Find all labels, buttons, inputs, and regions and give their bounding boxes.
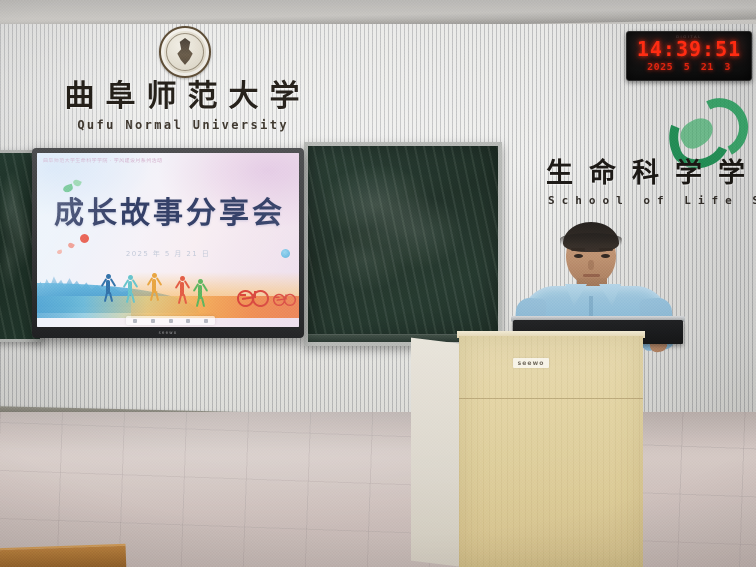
screen-indicator-icon[interactable] [281, 249, 290, 258]
wooden-object-corner [0, 544, 126, 567]
toolbar-icon[interactable] [169, 319, 173, 323]
jumping-figure [177, 274, 188, 304]
lectern-side-panel [411, 338, 463, 567]
presenter-eyebrow [571, 248, 585, 251]
lectern-seam [459, 398, 643, 399]
toolbar-icon[interactable] [133, 319, 137, 323]
center-blackboard [304, 142, 502, 346]
clock-weekday: 3 [724, 62, 731, 73]
lectern-front-panel: seewo [459, 336, 643, 567]
display-screen[interactable]: 曲阜师范大学生命科学学院 · 学风建设月系列活动 成长故事分享会 2025 年 … [37, 153, 299, 327]
school-name-chinese: 生命科学学院 [546, 158, 756, 190]
qufu-normal-university-sign: 曲阜师范大学 Qufu Normal University [48, 26, 316, 138]
clock-year: 2025 [647, 62, 673, 73]
clock-date-display: 2025 5 21 3 [627, 62, 751, 73]
lecture-hall-photo: DIGITAL 14:39:51 2025 5 21 3 曲阜师范大学 Qufu… [0, 0, 756, 567]
university-crest-emblem [159, 26, 211, 78]
jumping-figure [103, 272, 114, 302]
chalk-smudges [308, 146, 498, 342]
toolbar-icon[interactable] [186, 319, 190, 323]
jumping-figure [195, 277, 206, 307]
display-brand-label: seewo [159, 330, 178, 335]
wood-grain [459, 336, 643, 567]
jumping-figure [149, 271, 160, 301]
presenter-eye [601, 254, 610, 258]
presenter-eyebrow [599, 248, 613, 251]
school-of-life-sciences-sign: 生命科学学院 School of Life Sciences [546, 96, 756, 224]
display-bezel-chin: seewo [32, 327, 304, 338]
university-name-english: Qufu Normal University [48, 118, 316, 132]
slide-toolbar[interactable] [126, 316, 215, 325]
presenter-mouth [583, 274, 600, 277]
school-name-english: School of Life Sciences [548, 194, 756, 207]
clock-day: 21 [701, 62, 714, 73]
wooden-lectern: seewo [411, 336, 643, 567]
toolbar-icon[interactable] [151, 319, 155, 323]
slide-subtitle: 2025 年 5 月 21 日 [37, 249, 299, 259]
presenter-eye [574, 254, 583, 258]
green-leaf-logo-icon [664, 96, 736, 154]
slide-header-text: 曲阜师范大学生命科学学院 · 学风建设月系列活动 [43, 158, 287, 165]
petal-icon [80, 234, 89, 243]
clock-month: 5 [684, 62, 691, 73]
university-name-chinese: 曲阜师范大学 [48, 80, 316, 114]
toolbar-icon[interactable] [204, 319, 208, 323]
lectern-brand-label: seewo [513, 358, 549, 368]
led-wall-clock: DIGITAL 14:39:51 2025 5 21 3 [626, 31, 752, 81]
clock-time-display: 14:39:51 [627, 39, 751, 59]
jumping-figure [125, 273, 136, 303]
slide-title: 成长故事分享会 [37, 197, 299, 231]
interactive-smart-display[interactable]: 曲阜师范大学生命科学学院 · 学风建设月系列活动 成长故事分享会 2025 年 … [32, 148, 304, 338]
presenter-nose [588, 260, 594, 270]
